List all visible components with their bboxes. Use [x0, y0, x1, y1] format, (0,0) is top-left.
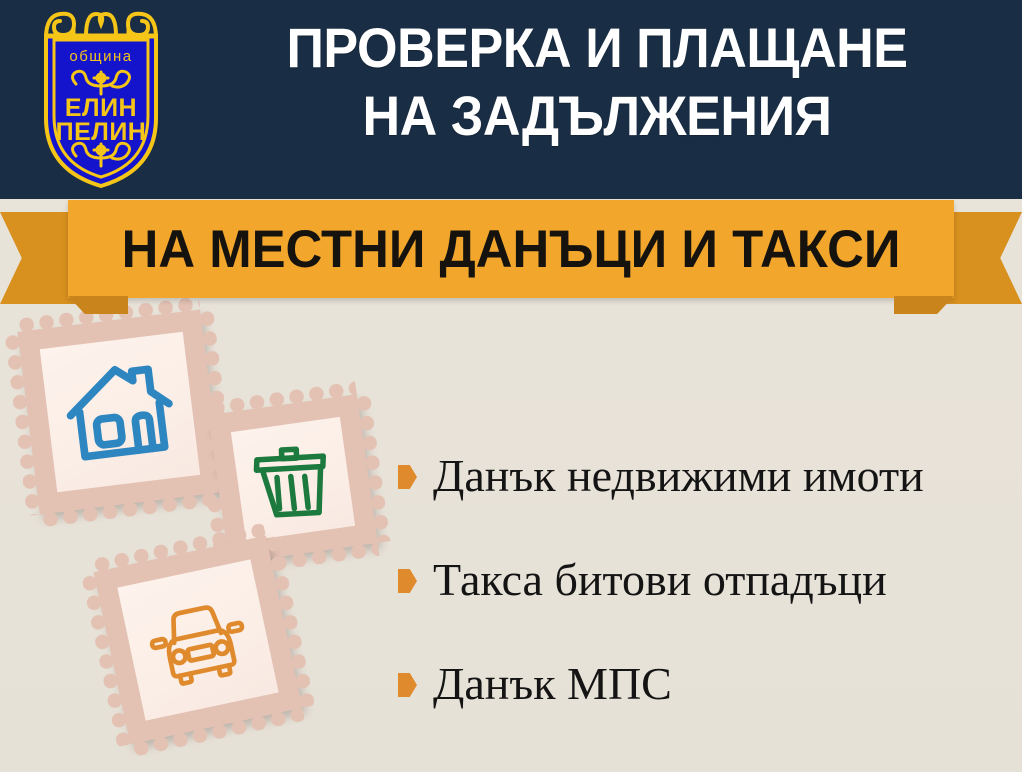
trash-bin-icon [241, 427, 345, 531]
list-item[interactable]: Данък недвижими имоти [398, 424, 1018, 528]
poster-canvas: ПРОВЕРКА И ПЛАЩАНЕ НА ЗАДЪЛЖЕНИЯ [0, 0, 1022, 772]
list-item-label: Данък МПС [433, 661, 672, 707]
services-list: Данък недвижими имоти Такса битови отпад… [398, 424, 1018, 736]
stamp-card-property [17, 309, 222, 514]
stamp-paper [117, 559, 278, 720]
ribbon-fold-right [894, 296, 954, 314]
arrow-bullet-icon [398, 465, 417, 489]
page-title-line-2: НА ЗАДЪЛЖЕНИЯ [211, 82, 983, 150]
house-icon [54, 346, 186, 478]
logo-name-line-2: ПЕЛИН [56, 118, 147, 146]
ribbon-fold-left [68, 296, 128, 314]
logo-top-text: община [69, 48, 132, 65]
ribbon-subtitle: НА МЕСТНИ ДАНЪЦИ И ТАКСИ [86, 200, 937, 298]
stamp-paper [40, 332, 200, 492]
list-item[interactable]: Такса битови отпадъци [398, 528, 1018, 632]
page-title-line-1: ПРОВЕРКА И ПЛАЩАНЕ [211, 14, 983, 82]
stamp-paper [231, 417, 355, 541]
ribbon-banner: НА МЕСТНИ ДАНЪЦИ И ТАКСИ [0, 196, 1022, 312]
municipality-logo: община ЕЛИН ПЕЛИН [22, 6, 180, 192]
list-item-label: Такса битови отпадъци [433, 557, 887, 603]
arrow-bullet-icon [398, 569, 417, 593]
list-item-label: Данък недвижими имоти [433, 453, 924, 499]
car-icon [136, 578, 259, 701]
arrow-bullet-icon [398, 673, 417, 697]
list-item[interactable]: Данък МПС [398, 632, 1018, 736]
page-title: ПРОВЕРКА И ПЛАЩАНЕ НА ЗАДЪЛЖЕНИЯ [211, 14, 983, 151]
stamp-card-vehicle [94, 536, 303, 745]
